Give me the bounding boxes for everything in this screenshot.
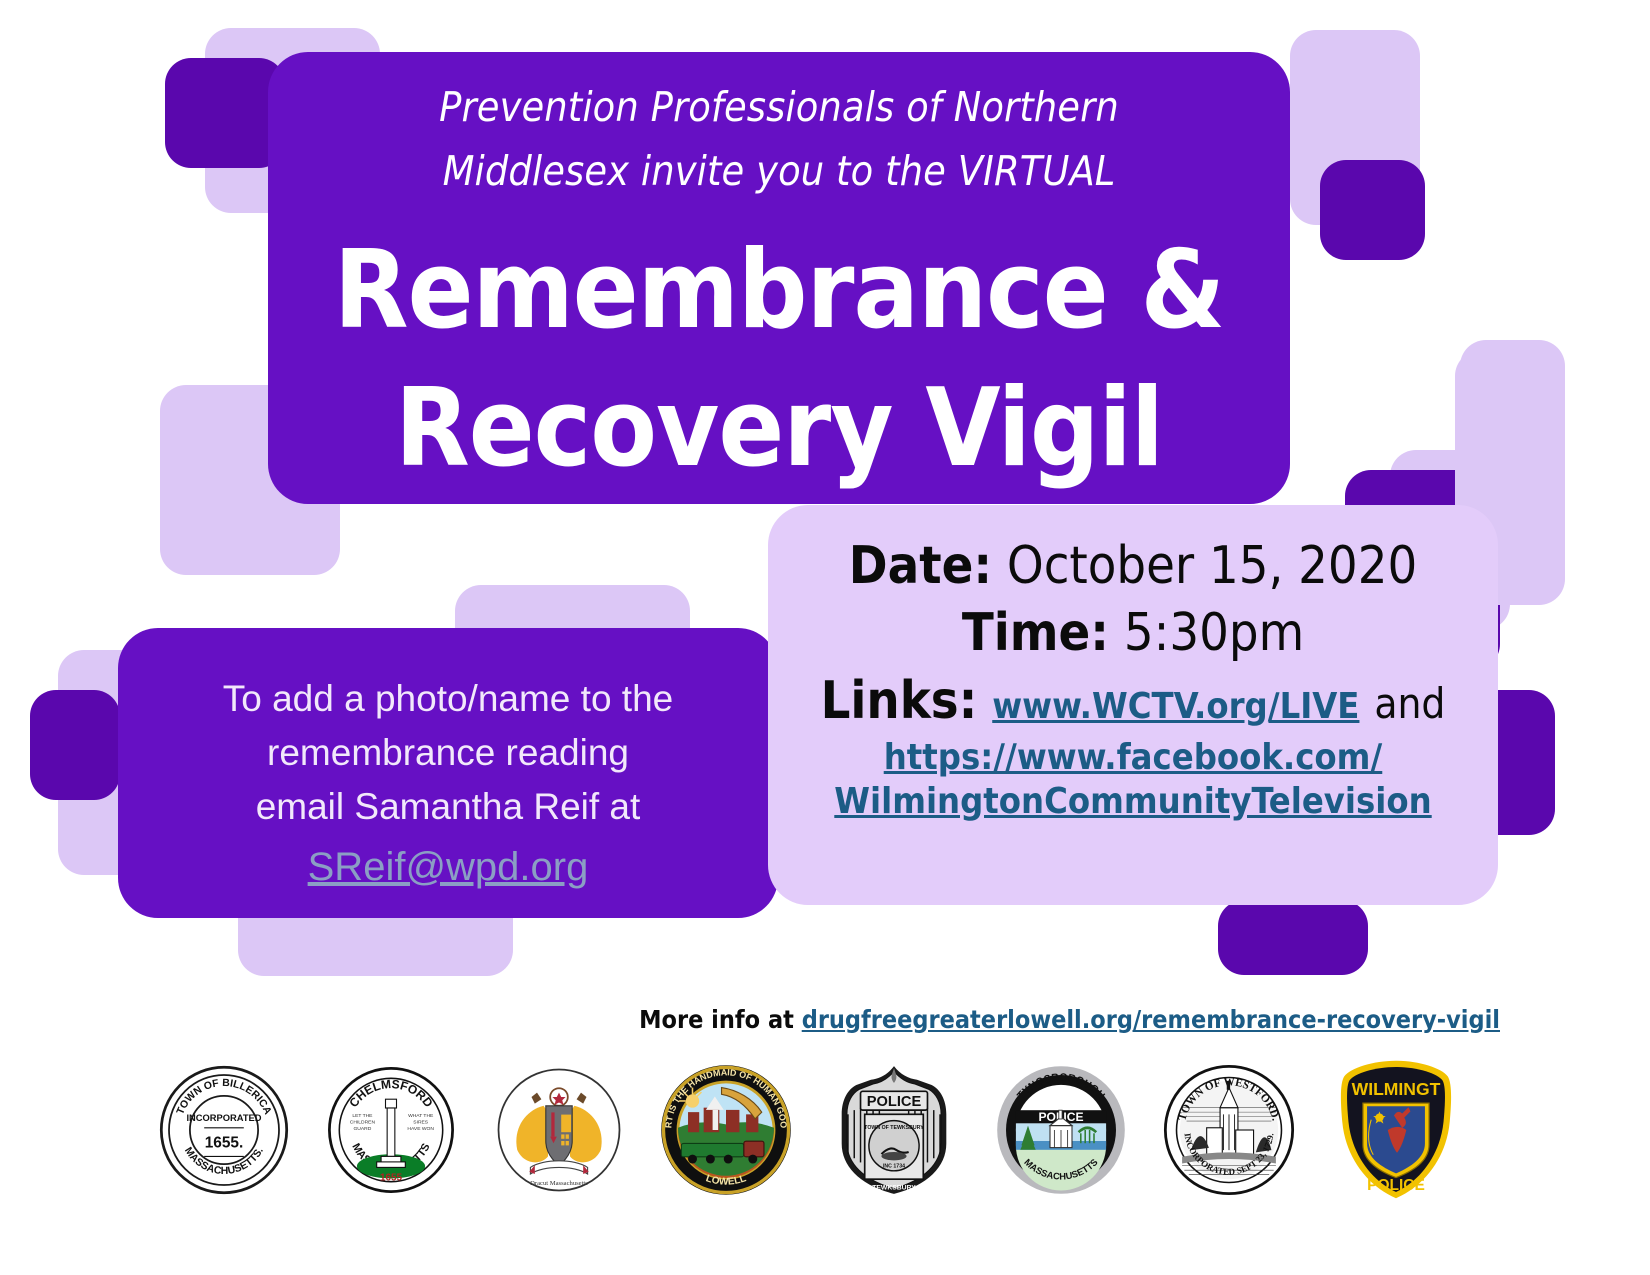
date-row: Date: October 15, 2020	[788, 533, 1478, 600]
svg-text:SIRES: SIRES	[414, 1119, 430, 1125]
invite-line-1: Prevention Professionals of Northern	[302, 76, 1256, 140]
svg-text:POLICE: POLICE	[866, 1094, 921, 1110]
date-label: Date:	[849, 536, 992, 596]
svg-text:1655.: 1655.	[205, 1135, 244, 1152]
contact-text: To add a photo/name to the remembrance r…	[118, 672, 778, 896]
svg-text:INCORPORATED: INCORPORATED	[186, 1113, 261, 1123]
hero-panel: Prevention Professionals of Northern Mid…	[268, 52, 1290, 504]
more-info-prefix: More info at	[639, 1005, 802, 1034]
deco-square-dark-6	[1218, 900, 1368, 975]
logo-tyngsborough-police-icon: POLICE TYNGSBOROUGH	[987, 1050, 1135, 1210]
title-line-1: Remembrance &	[288, 222, 1270, 360]
logo-chelmsford-icon: CHELMSFORD MASSACHUSETTS 1655 LET THE CH…	[317, 1050, 465, 1210]
page-title: Remembrance & Recovery Vigil	[268, 222, 1290, 498]
svg-text:Dracut Massachusetts: Dracut Massachusetts	[530, 1180, 588, 1187]
links-conjunction: and	[1374, 679, 1445, 728]
deco-square-dark-1	[165, 58, 285, 168]
svg-text:WHAT THE: WHAT THE	[408, 1113, 434, 1119]
links-row: Links: www.WCTV.org/LIVE and	[788, 668, 1478, 736]
wctv-live-link[interactable]: www.WCTV.org/LIVE	[992, 686, 1359, 727]
email-link[interactable]: SReif@wpd.org	[154, 838, 742, 896]
contact-panel: To add a photo/name to the remembrance r…	[118, 628, 778, 918]
svg-text:POLICE: POLICE	[1367, 1177, 1425, 1194]
svg-text:CHILDREN: CHILDREN	[350, 1119, 376, 1125]
svg-text:LET THE: LET THE	[353, 1113, 374, 1119]
details-panel: Date: October 15, 2020 Time: 5:30pm Link…	[768, 505, 1498, 905]
logo-tewksbury-police-icon: POLICE TOWN OF TEWKSBURY INC 1734 TEWKSB…	[820, 1050, 968, 1210]
logo-billerica-icon: TOWN OF BILLERICA MASSACHUSETTS. INCORPO…	[150, 1050, 298, 1210]
logo-dracut-icon: Dracut Massachusetts	[485, 1050, 633, 1210]
svg-text:1655: 1655	[380, 1173, 403, 1184]
time-label: Time:	[962, 603, 1109, 663]
deco-square-dark-3	[1320, 160, 1425, 260]
svg-text:TOWN OF TEWKSBURY: TOWN OF TEWKSBURY	[864, 1125, 924, 1131]
title-line-2: Recovery Vigil	[288, 360, 1270, 498]
logo-westford-icon: TOWN OF WESTFORD. INCORPORATED SEPT 23, …	[1155, 1050, 1303, 1210]
links-label: Links:	[821, 671, 978, 731]
facebook-link-line-2[interactable]: WilmingtonCommunityTelevision	[788, 780, 1478, 824]
contact-line-3: email Samantha Reif at	[154, 780, 742, 834]
svg-text:TEWKSBURY: TEWKSBURY	[872, 1185, 916, 1192]
poster-canvas: Prevention Professionals of Northern Mid…	[0, 0, 1650, 1275]
logo-lowell-icon: ART IS THE HANDMAID OF HUMAN GOOD LOWELL	[652, 1050, 800, 1210]
invite-text: Prevention Professionals of Northern Mid…	[268, 76, 1290, 203]
svg-text:GUARD: GUARD	[354, 1126, 372, 1132]
invite-line-2: Middlesex invite you to the VIRTUAL	[302, 140, 1256, 204]
contact-line-1: To add a photo/name to the	[154, 672, 742, 726]
deco-square-dark-2	[30, 690, 120, 800]
svg-text:WILMINGT: WILMINGT	[1352, 1079, 1441, 1099]
facebook-link-line-1[interactable]: https://www.facebook.com/	[788, 736, 1478, 780]
svg-text:INC 1734: INC 1734	[883, 1164, 905, 1170]
sponsor-logo-row: TOWN OF BILLERICA MASSACHUSETTS. INCORPO…	[150, 1040, 1470, 1220]
time-value: 5:30pm	[1124, 603, 1304, 663]
time-row: Time: 5:30pm	[788, 600, 1478, 667]
logo-wilmington-police-icon: WILMINGT POLICE	[1322, 1050, 1470, 1210]
details-text: Date: October 15, 2020 Time: 5:30pm Link…	[768, 533, 1498, 824]
more-info-row: More info at drugfreegreaterlowell.org/r…	[0, 1005, 1650, 1034]
more-info-link[interactable]: drugfreegreaterlowell.org/remembrance-re…	[802, 1005, 1500, 1034]
contact-line-2: remembrance reading	[154, 726, 742, 780]
date-value: October 15, 2020	[1007, 536, 1417, 596]
svg-text:HAVE WON: HAVE WON	[408, 1126, 435, 1132]
